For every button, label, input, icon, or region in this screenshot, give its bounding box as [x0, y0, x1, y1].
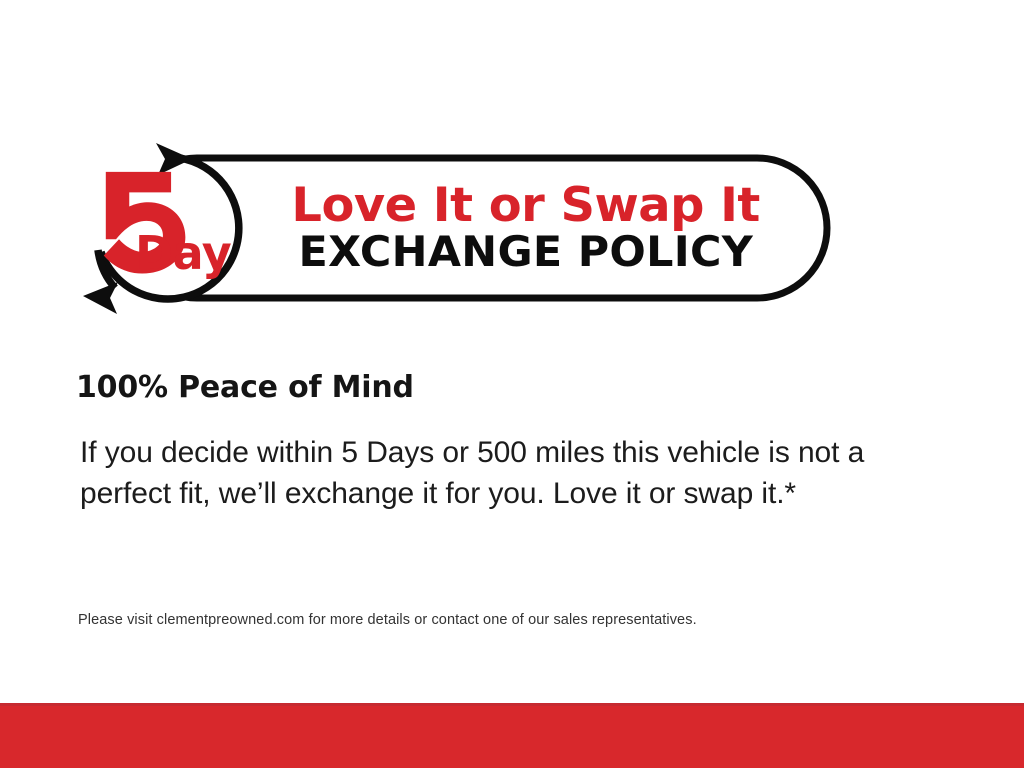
subheading: 100% Peace of Mind: [76, 370, 414, 405]
body-copy: If you decide within 5 Days or 500 miles…: [80, 432, 870, 514]
fine-print-disclaimer: Please visit clementpreowned.com for mor…: [78, 610, 958, 630]
promo-slide: Day Love It or Swap It EXCHANGE POLICY 1…: [0, 0, 1024, 768]
exchange-policy-badge: Day Love It or Swap It EXCHANGE POLICY: [60, 128, 850, 328]
footer-bar-top-edge: [0, 703, 1024, 706]
headline-secondary: EXCHANGE POLICY: [299, 231, 754, 274]
headline-primary: Love It or Swap It: [292, 182, 760, 230]
day-label: Day: [135, 226, 232, 280]
footer-bar: [0, 703, 1024, 768]
pill-headline-group: Love It or Swap It EXCHANGE POLICY: [220, 158, 832, 298]
